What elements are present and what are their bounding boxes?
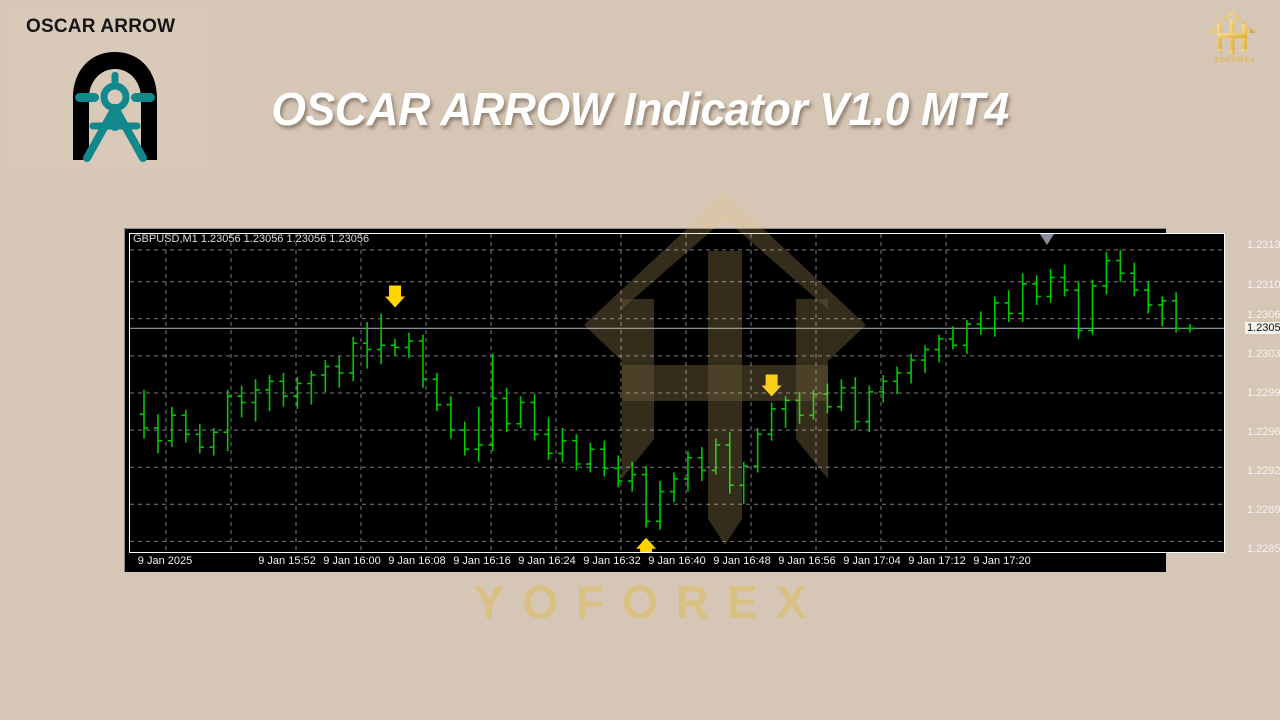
time-axis: 9 Jan 2025 9 Jan 15:52 9 Jan 16:00 9 Jan… (129, 553, 1231, 573)
yoforex-arrow-icon (1202, 10, 1262, 56)
time-tick: 9 Jan 16:16 (453, 555, 511, 567)
price-tick: 1.22890 (1247, 504, 1280, 516)
price-tick: 1.23030 (1247, 348, 1280, 360)
page-title: OSCAR ARROW Indicator V1.0 MT4 (19, 82, 1261, 136)
yoforex-logo: YOFOREX (1202, 10, 1268, 76)
time-tick: 9 Jan 17:12 (908, 555, 966, 567)
price-tick: 1.23100 (1247, 279, 1280, 291)
time-tick: 9 Jan 16:48 (713, 555, 771, 567)
yoforex-logo-label: YOFOREX (1202, 57, 1268, 64)
time-tick: 9 Jan 2025 (138, 555, 192, 567)
brand-name: OSCAR ARROW (26, 16, 175, 38)
price-tick: 1.22960 (1247, 426, 1280, 438)
mt4-chart-window[interactable]: GBPUSD,M1 1.23056 1.23056 1.23056 1.2305… (124, 228, 1166, 572)
price-tick: 1.22925 (1247, 465, 1280, 477)
price-axis: 1.23130 1.23100 1.23065 1.23056 1.23030 … (1233, 229, 1280, 573)
price-chart-svg (130, 234, 1224, 552)
time-tick: 9 Jan 16:56 (778, 555, 836, 567)
time-tick: 9 Jan 16:00 (323, 555, 381, 567)
time-tick: 9 Jan 17:20 (973, 555, 1031, 567)
current-price-tick: 1.23056 (1245, 322, 1280, 334)
price-tick: 1.23065 (1247, 309, 1280, 321)
chart-symbol-label: GBPUSD,M1 1.23056 1.23056 1.23056 1.2305… (133, 233, 369, 245)
time-tick: 9 Jan 16:24 (518, 555, 576, 567)
price-tick: 1.22995 (1247, 387, 1280, 399)
time-tick: 9 Jan 16:40 (648, 555, 706, 567)
yoforex-watermark-text: YOFOREX (0, 575, 1280, 629)
time-tick: 9 Jan 15:52 (258, 555, 316, 567)
time-tick: 9 Jan 16:32 (583, 555, 641, 567)
price-tick: 1.22855 (1247, 543, 1280, 555)
price-tick: 1.23130 (1247, 239, 1280, 251)
time-tick: 9 Jan 16:08 (388, 555, 446, 567)
chart-plot-area[interactable] (129, 233, 1225, 553)
time-tick: 9 Jan 17:04 (843, 555, 901, 567)
